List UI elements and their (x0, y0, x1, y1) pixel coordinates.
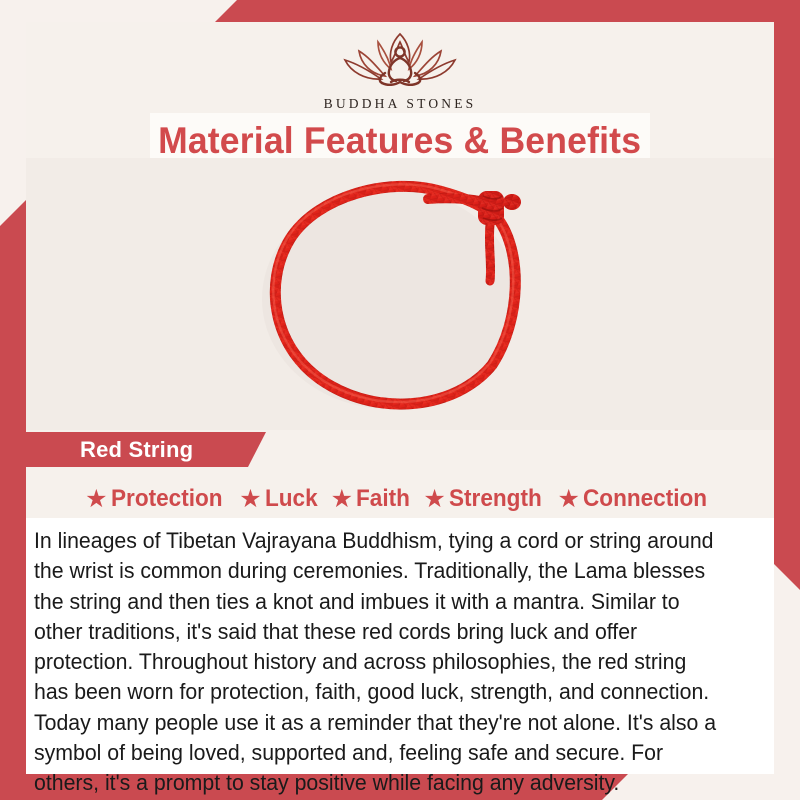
bracelet-knot (478, 191, 521, 225)
feature-item-luck: ★ Luck (239, 485, 320, 513)
product-photo (26, 158, 774, 430)
feature-label: Protection (111, 485, 223, 513)
description-panel: In lineages of Tibetan Vajrayana Buddhis… (26, 518, 774, 774)
page-title: Material Features & Benefits (158, 120, 641, 162)
star-icon: ★ (85, 487, 107, 512)
frame-bar-left (0, 200, 26, 800)
brand-name: BUDDHA STONES (324, 96, 477, 112)
star-icon: ★ (331, 487, 353, 512)
brand-logo: BUDDHA STONES (26, 26, 774, 112)
star-icon: ★ (557, 487, 579, 512)
material-ribbon: Red String (26, 432, 266, 467)
feature-item-strength: ★ Strength (423, 485, 547, 513)
infographic-card: BUDDHA STONES Material Features & Benefi… (0, 0, 800, 800)
lotus-meditating-figure-icon (325, 26, 475, 94)
feature-label: Strength (449, 485, 542, 513)
star-icon: ★ (239, 487, 261, 512)
feature-label: Faith (356, 485, 410, 513)
frame-bar-right (774, 22, 800, 590)
red-string-bracelet-illustration (240, 169, 560, 419)
page-surface: BUDDHA STONES Material Features & Benefi… (26, 22, 774, 774)
feature-label: Luck (265, 485, 318, 513)
star-icon: ★ (423, 487, 445, 512)
feature-item-connection: ★ Connection (557, 485, 714, 513)
feature-item-protection: ★ Protection (85, 485, 229, 513)
feature-item-faith: ★ Faith (331, 485, 414, 513)
feature-label: Connection (583, 485, 707, 513)
description-text: In lineages of Tibetan Vajrayana Buddhis… (34, 526, 716, 799)
material-label: Red String (80, 437, 193, 463)
frame-bar-top (215, 0, 800, 22)
feature-list: ★ Protection ★ Luck ★ Faith ★ Strength ★… (26, 478, 774, 520)
